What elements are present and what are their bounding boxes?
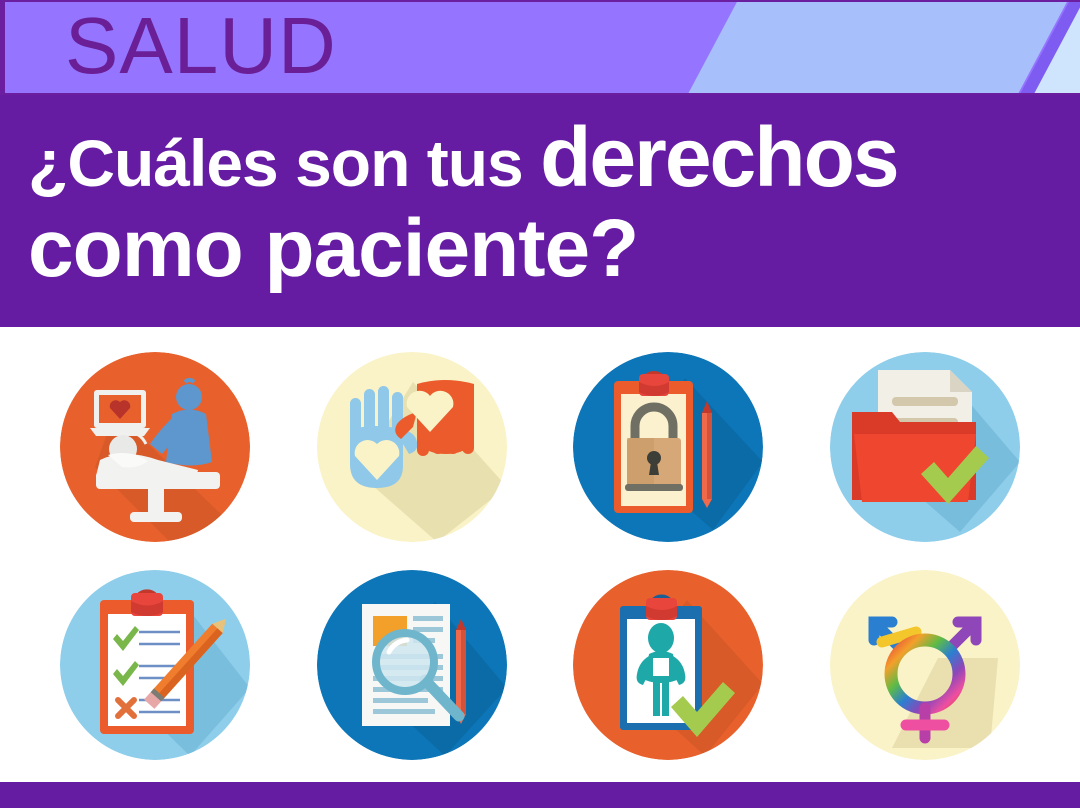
ribbon-stripe-mid — [652, 2, 1080, 93]
checklist-pencil-icon — [60, 570, 250, 760]
caring-hands-heart-icon — [317, 352, 507, 542]
title-band: ¿Cuáles son tus derechos como paciente? — [0, 95, 1080, 327]
title-line-two: como paciente? — [28, 203, 638, 295]
icon-cell-document-magnifier[interactable] — [317, 570, 507, 760]
patient-identity-check-icon — [573, 570, 763, 760]
category-ribbon: SALUD — [0, 0, 1080, 95]
icon-cell-checklist[interactable] — [60, 570, 250, 760]
icon-cell-caring-hands[interactable] — [317, 352, 507, 542]
folder-document-check-icon — [830, 352, 1020, 542]
icon-grid — [0, 332, 1080, 782]
category-label: SALUD — [65, 2, 337, 93]
poster-root: SALUD ¿Cuáles son tus derechos como paci… — [0, 0, 1080, 808]
gender-identity-icon — [830, 570, 1020, 760]
document-magnifier-icon — [317, 570, 507, 760]
title-question-lead: ¿Cuáles son tus — [28, 126, 540, 200]
clipboard-lock-privacy-icon — [573, 352, 763, 542]
icon-cell-folder-check[interactable] — [830, 352, 1020, 542]
footer-bar — [0, 782, 1080, 808]
title-emphasis-word: derechos — [540, 110, 898, 204]
title-line-one: ¿Cuáles son tus derechos — [28, 117, 898, 203]
icon-cell-patient-identity[interactable] — [573, 570, 763, 760]
icon-cell-patient-care[interactable] — [60, 352, 250, 542]
patient-care-icon — [60, 352, 250, 542]
icon-cell-clipboard-lock[interactable] — [573, 352, 763, 542]
icon-cell-gender-identity[interactable] — [830, 570, 1020, 760]
category-ribbon-inner: SALUD — [5, 2, 1080, 93]
